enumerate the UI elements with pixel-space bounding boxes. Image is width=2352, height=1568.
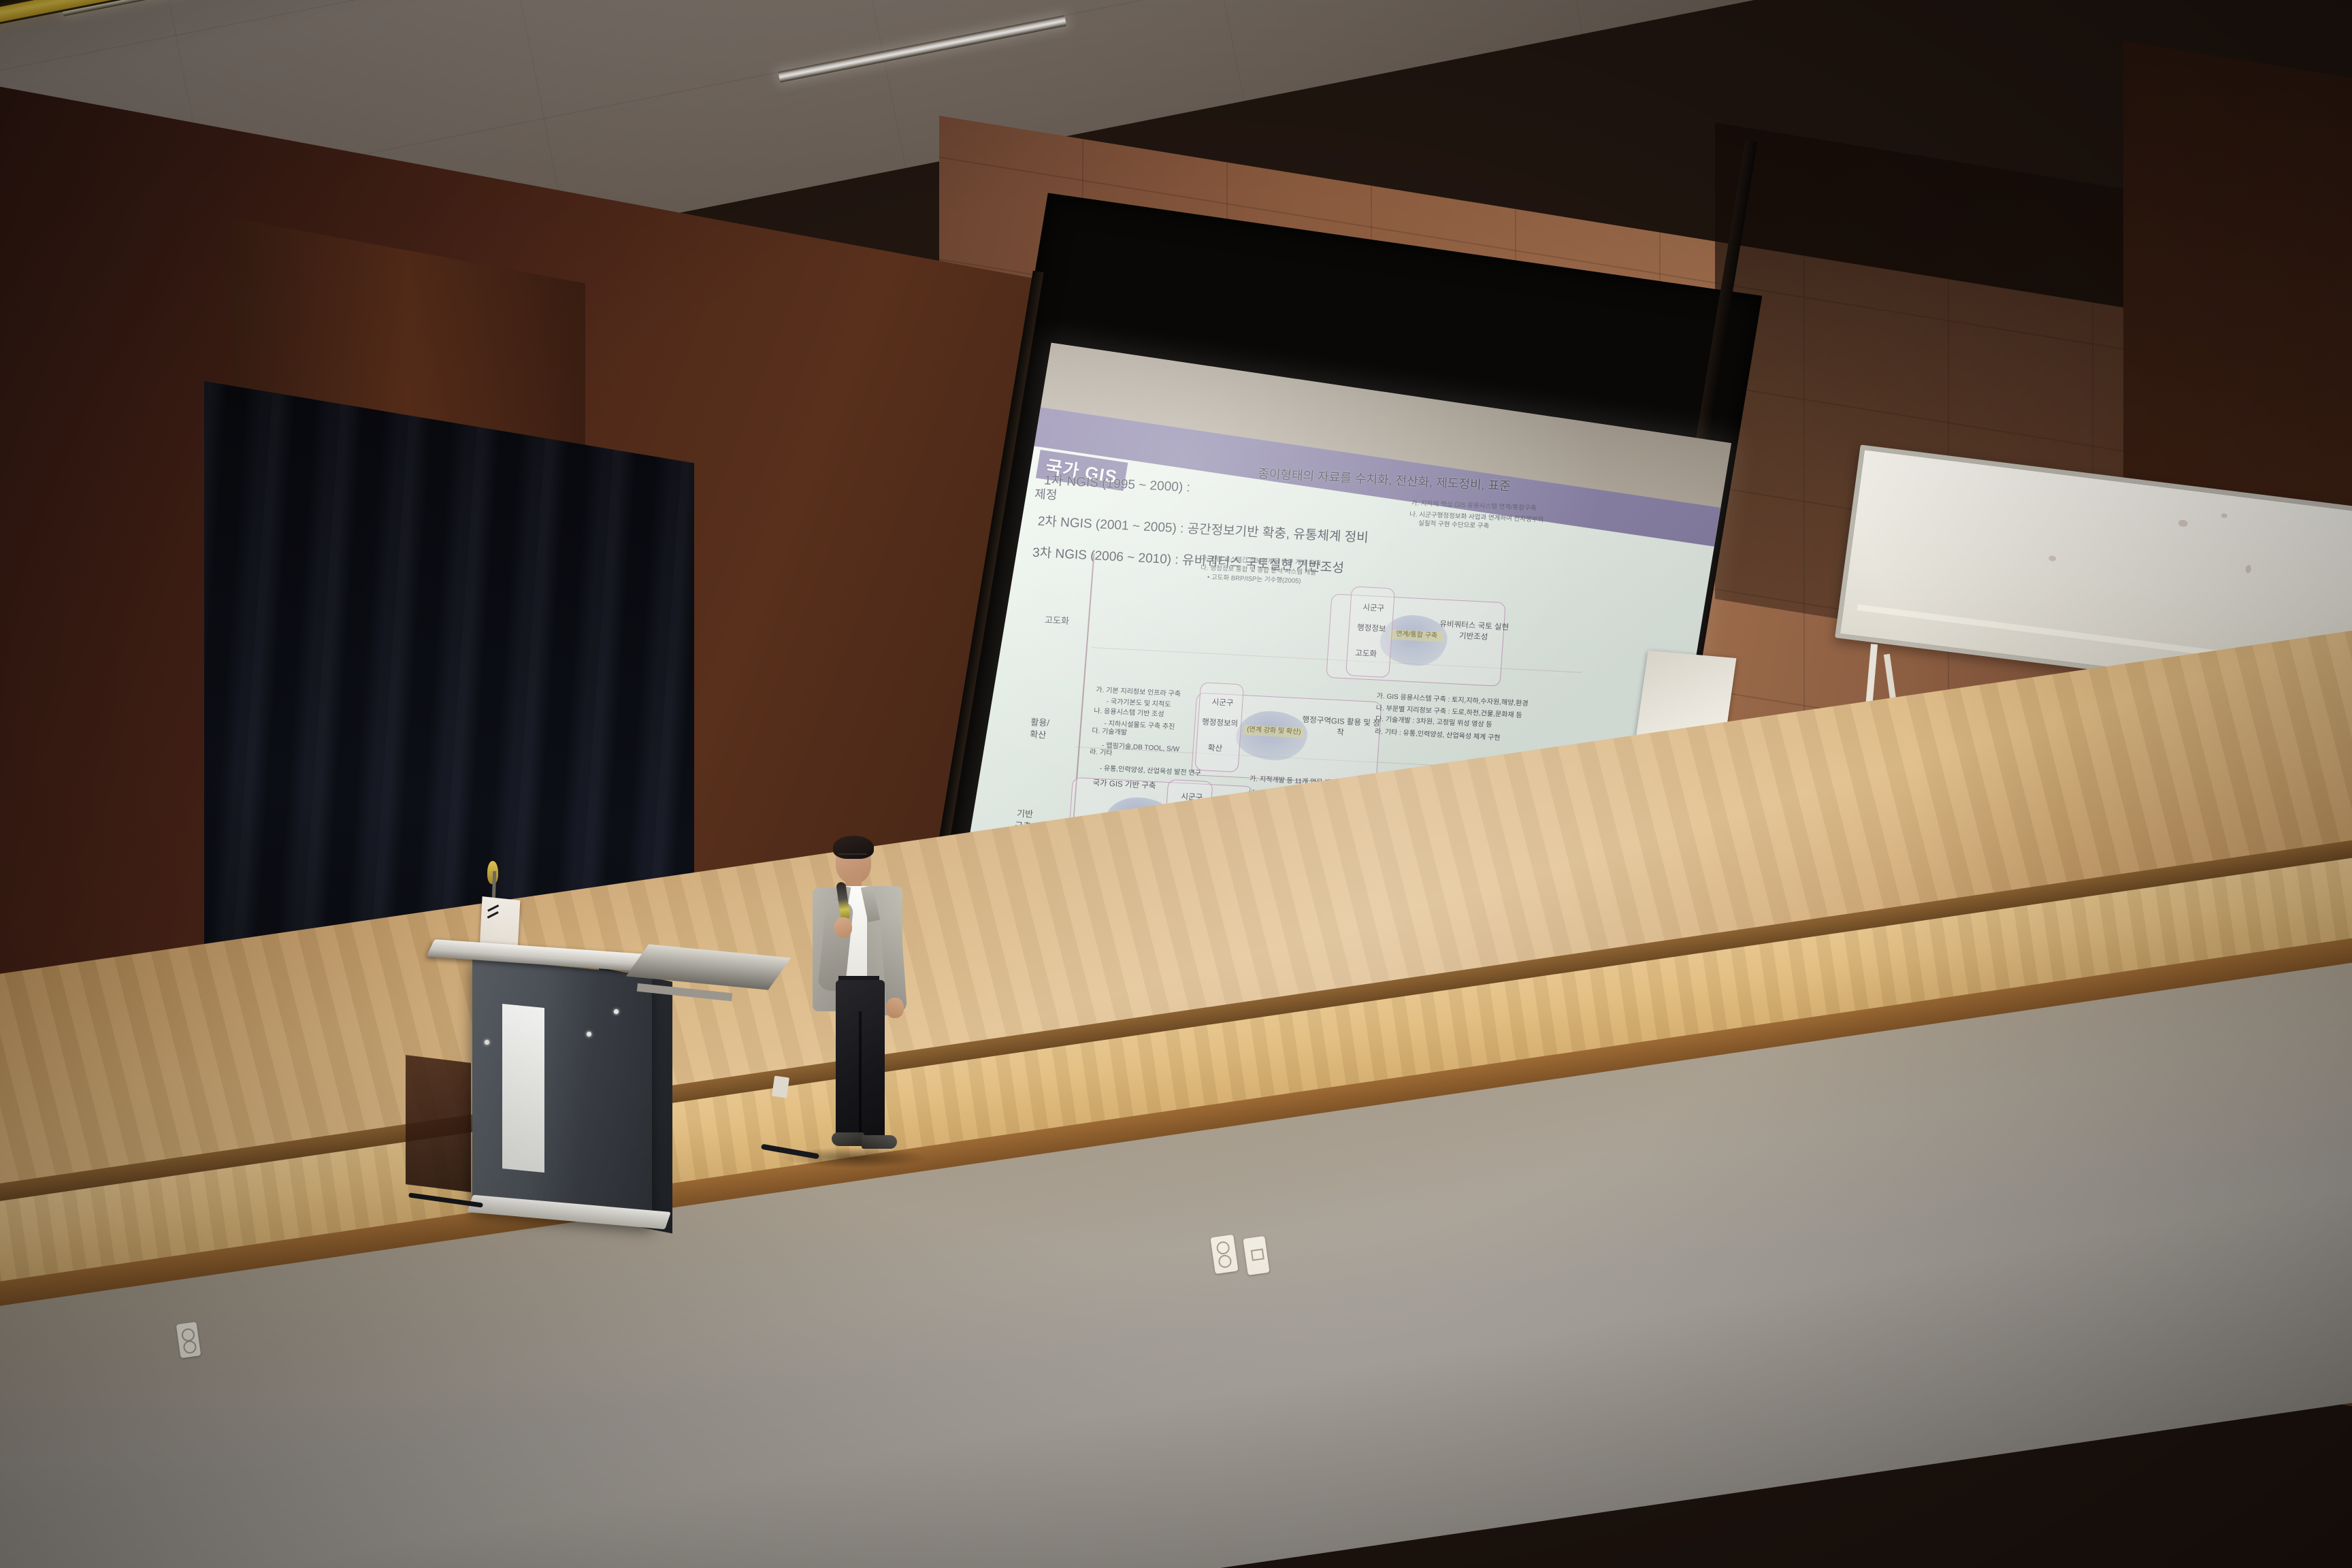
- presenter-hand-left: [834, 917, 852, 938]
- lectern-stripe: [502, 1004, 544, 1173]
- chair: [406, 1055, 471, 1192]
- ceiling-light-fixture: [778, 15, 1066, 82]
- chart-ylabel-1b: 확산: [1014, 729, 1062, 741]
- phase-outer-label-top: 유비쿼터스 국토 실현 기반조성: [1438, 619, 1510, 644]
- presenter-hand-right: [886, 998, 904, 1018]
- presenter: [796, 836, 912, 1162]
- phase-outer-label-mid: 행정구역GIS 활용 및 정착: [1299, 715, 1382, 740]
- presenter-shoe-left: [832, 1132, 864, 1146]
- lectern[interactable]: [472, 958, 652, 1225]
- slide-left-note-8: - 유통,인력양성, 산업육성 발전 연구: [1099, 764, 1201, 779]
- slide-topright-note-3: 실질적 구현 수단으로 구축: [1418, 518, 1490, 530]
- slide-left-note-5: 다. 기술개발: [1092, 726, 1128, 738]
- slide-left-note-6: - 맵핑기술,DB TOOL, S/W: [1102, 740, 1180, 755]
- slide-bullet-1: 1차 NGIS (1995 ~ 2000) :: [1043, 470, 1190, 496]
- glasses-icon: [838, 853, 867, 860]
- wall-outlet[interactable]: [772, 1076, 789, 1098]
- slide-bullet-2: 2차 NGIS (2001 ~ 2005) : 공간정보기반 확충, 유통체계 …: [1037, 511, 1369, 546]
- chart-ylabel-2a: 기반: [1000, 808, 1049, 821]
- presenter-leg-seam: [859, 1011, 862, 1138]
- stage-power-outlet[interactable]: [1210, 1235, 1238, 1274]
- chart-ylabel-1a: 활용/: [1016, 717, 1064, 729]
- slide-left-note-7: 라. 기타: [1090, 747, 1113, 759]
- presenter-shoe-right: [862, 1135, 897, 1149]
- auditorium-photo: 국가 GIS 종이형태의 자료를 수치화, 전산화, 제도정비, 표준 제정 1…: [0, 0, 2352, 1568]
- lectern-indicator-light: [614, 1009, 619, 1014]
- lectern-indicator-light: [485, 1040, 489, 1045]
- chart-ylabel-0: 고도화: [1032, 615, 1081, 627]
- lectern-indicator-light: [587, 1032, 591, 1036]
